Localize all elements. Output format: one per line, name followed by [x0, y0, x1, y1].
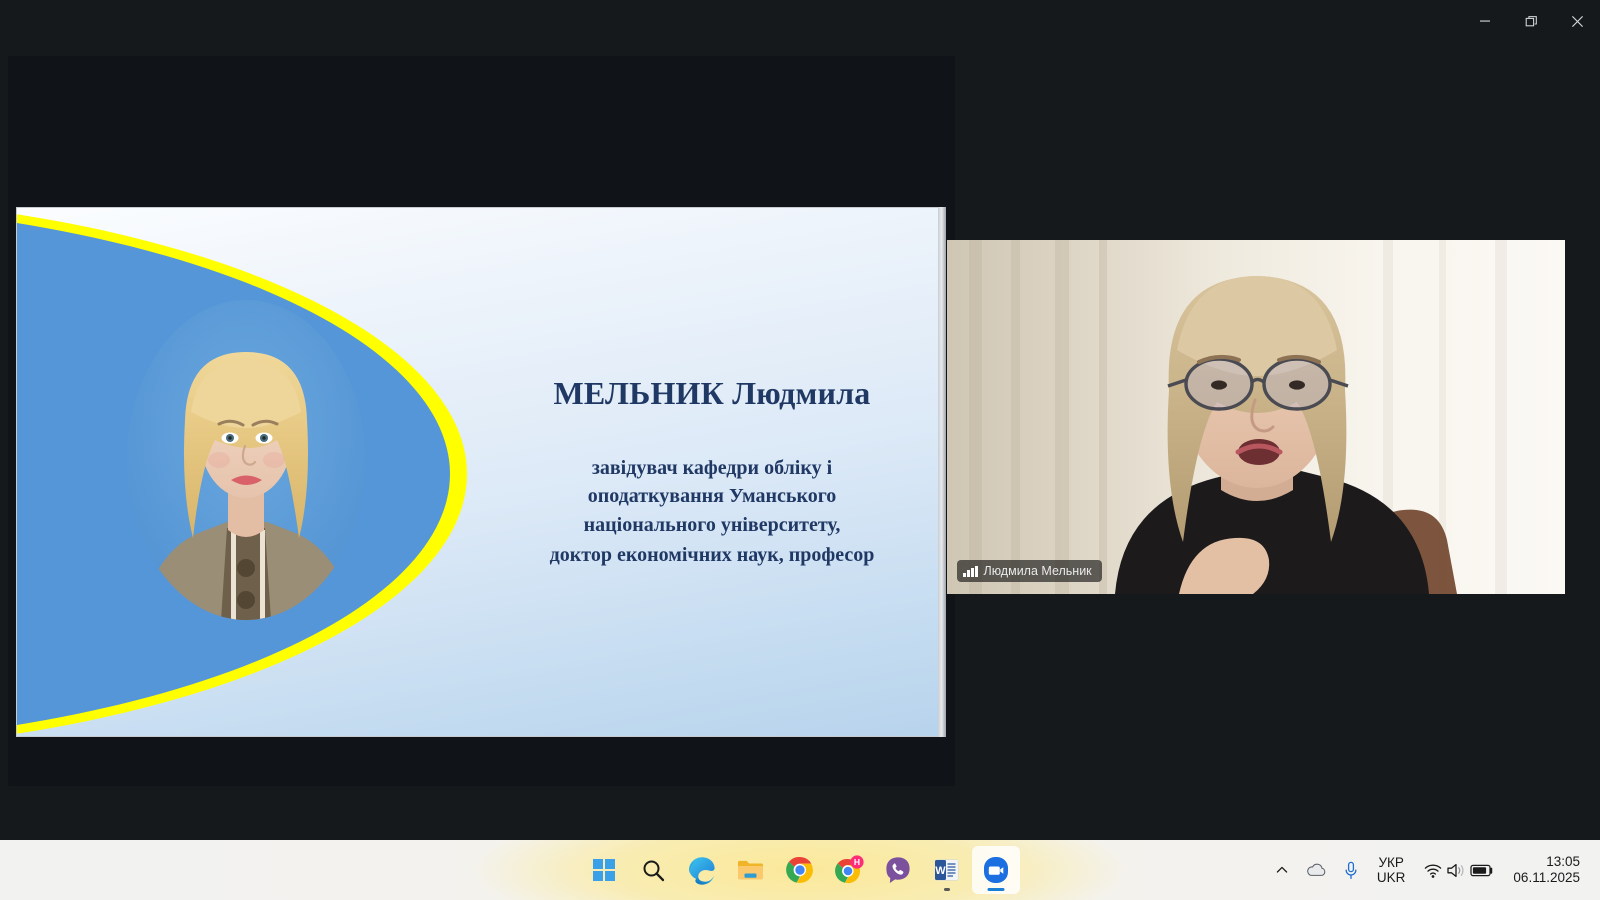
- close-button[interactable]: [1554, 0, 1600, 42]
- language-secondary: UKR: [1377, 870, 1406, 885]
- system-tray: УКР UKR: [1268, 840, 1592, 900]
- word-icon: W: [933, 856, 961, 884]
- clock-date: 06.11.2025: [1513, 870, 1580, 886]
- signal-bars-icon: [963, 566, 978, 577]
- subtitle-line-3: національного університету,: [550, 511, 875, 539]
- taskbar-pinned-apps: H W: [580, 840, 1020, 900]
- microphone-icon: [1343, 861, 1359, 880]
- viber-button[interactable]: [874, 846, 922, 894]
- running-indicator: [944, 888, 950, 891]
- cloud-icon: [1305, 862, 1327, 878]
- language-primary: УКР: [1378, 855, 1403, 870]
- microphone-button[interactable]: [1336, 850, 1366, 890]
- presenter-subtitle: завідувач кафедри обліку і оподаткування…: [550, 454, 875, 570]
- portrait-illustration-icon: [127, 300, 365, 620]
- presentation-slide[interactable]: МЕЛЬНИК Людмила завідувач кафедри обліку…: [16, 207, 946, 737]
- edge-button[interactable]: [678, 846, 726, 894]
- participant-video-tile[interactable]: Людмила Мельник: [947, 240, 1565, 594]
- shared-screen-panel[interactable]: МЕЛЬНИК Людмила завідувач кафедри обліку…: [8, 56, 955, 786]
- slide-text-block: МЕЛЬНИК Людмила завідувач кафедри обліку…: [477, 208, 946, 736]
- svg-text:H: H: [854, 857, 860, 867]
- file-explorer-button[interactable]: [727, 846, 775, 894]
- onedrive-button[interactable]: [1298, 850, 1334, 890]
- tray-overflow-button[interactable]: [1268, 850, 1296, 890]
- participant-name-text: Людмила Мельник: [984, 564, 1092, 578]
- zoom-button[interactable]: zoom: [972, 846, 1020, 894]
- subtitle-line-4: доктор економічних наук, професор: [550, 541, 875, 569]
- subtitle-line-2: оподаткування Уманського: [550, 482, 875, 510]
- start-button[interactable]: [580, 846, 628, 894]
- speaker-icon: [1446, 862, 1467, 879]
- chrome-button[interactable]: [776, 846, 824, 894]
- viber-icon: [883, 855, 913, 885]
- clock-time: 13:05: [1546, 854, 1580, 870]
- presenter-name: МЕЛЬНИК Людмила: [554, 375, 871, 412]
- restore-button[interactable]: [1508, 0, 1554, 42]
- participant-name-label: Людмила Мельник: [957, 560, 1102, 582]
- chrome-h-button[interactable]: H: [825, 846, 873, 894]
- presenter-portrait-photo: [127, 300, 365, 620]
- windows-taskbar: H W: [0, 840, 1600, 900]
- search-button[interactable]: [629, 846, 677, 894]
- zoom-screen-share-window: МЕЛЬНИК Людмила завідувач кафедри обліку…: [0, 0, 1600, 900]
- minimize-icon: [1479, 15, 1491, 27]
- restore-icon: [1525, 15, 1538, 28]
- chevron-up-icon: [1275, 863, 1289, 877]
- meeting-stage: МЕЛЬНИК Людмила завідувач кафедри обліку…: [0, 42, 1600, 832]
- clock-button[interactable]: 13:05 06.11.2025: [1503, 850, 1592, 890]
- chrome-icon: [785, 855, 815, 885]
- svg-text:W: W: [935, 865, 946, 877]
- slide-edge-strip: [938, 207, 946, 737]
- word-button[interactable]: W: [923, 846, 971, 894]
- quick-settings-button[interactable]: [1416, 850, 1501, 890]
- window-titlebar: [0, 0, 1600, 42]
- windows-logo-icon: [592, 858, 616, 882]
- minimize-button[interactable]: [1462, 0, 1508, 42]
- chrome-badge-h-icon: H: [834, 855, 864, 885]
- folder-icon: [736, 855, 766, 885]
- battery-icon: [1470, 863, 1494, 878]
- subtitle-line-1: завідувач кафедри обліку і: [550, 454, 875, 482]
- language-indicator[interactable]: УКР UKR: [1368, 850, 1415, 890]
- wifi-icon: [1423, 862, 1443, 879]
- active-indicator: [988, 888, 1005, 892]
- edge-icon: [687, 855, 717, 885]
- close-icon: [1571, 15, 1584, 28]
- search-icon: [641, 858, 666, 883]
- zoom-icon: zoom: [981, 855, 1011, 885]
- participant-webcam-image: [947, 240, 1565, 594]
